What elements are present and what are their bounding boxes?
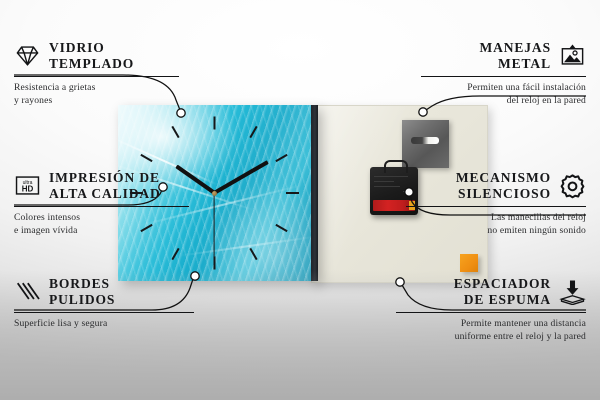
- callout-title: IMPRESIÓN DE ALTA CALIDAD: [49, 170, 161, 202]
- polished-edges-icon: [14, 278, 41, 305]
- callout-header: ultra HD IMPRESIÓN DE ALTA CALIDAD: [14, 170, 189, 202]
- callout-subtitle: Permite mantener una distancia uniforme …: [396, 318, 586, 344]
- metal-hanger-plate: [402, 120, 449, 168]
- callout-bordes-pulidos[interactable]: BORDES PULIDOS Superficie lisa y segura: [14, 276, 194, 331]
- callout-mecanismo-silencioso[interactable]: MECANISMO SILENCIOSO Las manecillas del …: [406, 170, 586, 238]
- callout-rule: [406, 206, 586, 208]
- callout-header: ESPACIADOR DE ESPUMA: [396, 276, 586, 308]
- callout-subtitle: Las manecillas del reloj no emiten ningú…: [406, 212, 586, 238]
- foam-spacer-square: [460, 254, 478, 272]
- callout-subtitle: Permiten una fácil instalación del reloj…: [421, 82, 586, 108]
- infographic-stage: VIDRIO TEMPLADO Resistencia a grietas y …: [0, 0, 600, 400]
- ultra-hd-icon: ultra HD: [14, 172, 41, 199]
- callout-vidrio-templado[interactable]: VIDRIO TEMPLADO Resistencia a grietas y …: [14, 40, 179, 108]
- clock-hand-second: [213, 193, 214, 265]
- callout-header: MECANISMO SILENCIOSO: [406, 170, 586, 202]
- clock-tick: [286, 192, 299, 194]
- callout-title: MECANISMO SILENCIOSO: [456, 170, 551, 202]
- callout-title: MANEJAS METAL: [479, 40, 551, 72]
- callout-header: BORDES PULIDOS: [14, 276, 194, 308]
- callout-rule: [396, 312, 586, 314]
- clock-side-edge: [311, 105, 318, 281]
- picture-hanger-icon: [559, 42, 586, 69]
- mechanism-detail-line: [374, 176, 408, 177]
- mechanism-detail-line: [374, 186, 400, 187]
- callout-title: VIDRIO TEMPLADO: [49, 40, 134, 72]
- callout-espaciador-espuma[interactable]: ESPACIADOR DE ESPUMA Permite mantener un…: [396, 276, 586, 344]
- callout-subtitle: Superficie lisa y segura: [14, 318, 194, 331]
- callout-rule: [14, 312, 194, 314]
- callout-impresion-alta-calidad[interactable]: ultra HD IMPRESIÓN DE ALTA CALIDAD Color…: [14, 170, 189, 238]
- foam-spacer-icon: [559, 278, 586, 305]
- svg-text:HD: HD: [22, 185, 34, 194]
- hanger-slot: [411, 137, 439, 144]
- callout-rule: [14, 76, 179, 78]
- callout-header: MANEJAS METAL: [421, 40, 586, 72]
- callout-subtitle: Colores intensos e imagen vívida: [14, 212, 189, 238]
- callout-header: VIDRIO TEMPLADO: [14, 40, 179, 72]
- callout-manejas-metal[interactable]: MANEJAS METAL Permiten una fácil instala…: [421, 40, 586, 108]
- callout-rule: [421, 76, 586, 78]
- callout-subtitle: Resistencia a grietas y rayones: [14, 82, 179, 108]
- callout-title: BORDES PULIDOS: [49, 276, 115, 308]
- diamond-icon: [14, 42, 41, 69]
- clock-tick: [213, 117, 215, 130]
- clock-center-cap: [212, 191, 217, 196]
- callout-rule: [14, 206, 189, 208]
- mechanism-detail-line: [374, 181, 394, 182]
- gear-icon: [559, 172, 586, 199]
- mechanism-hang-loop: [384, 160, 408, 173]
- callout-title: ESPACIADOR DE ESPUMA: [454, 276, 551, 308]
